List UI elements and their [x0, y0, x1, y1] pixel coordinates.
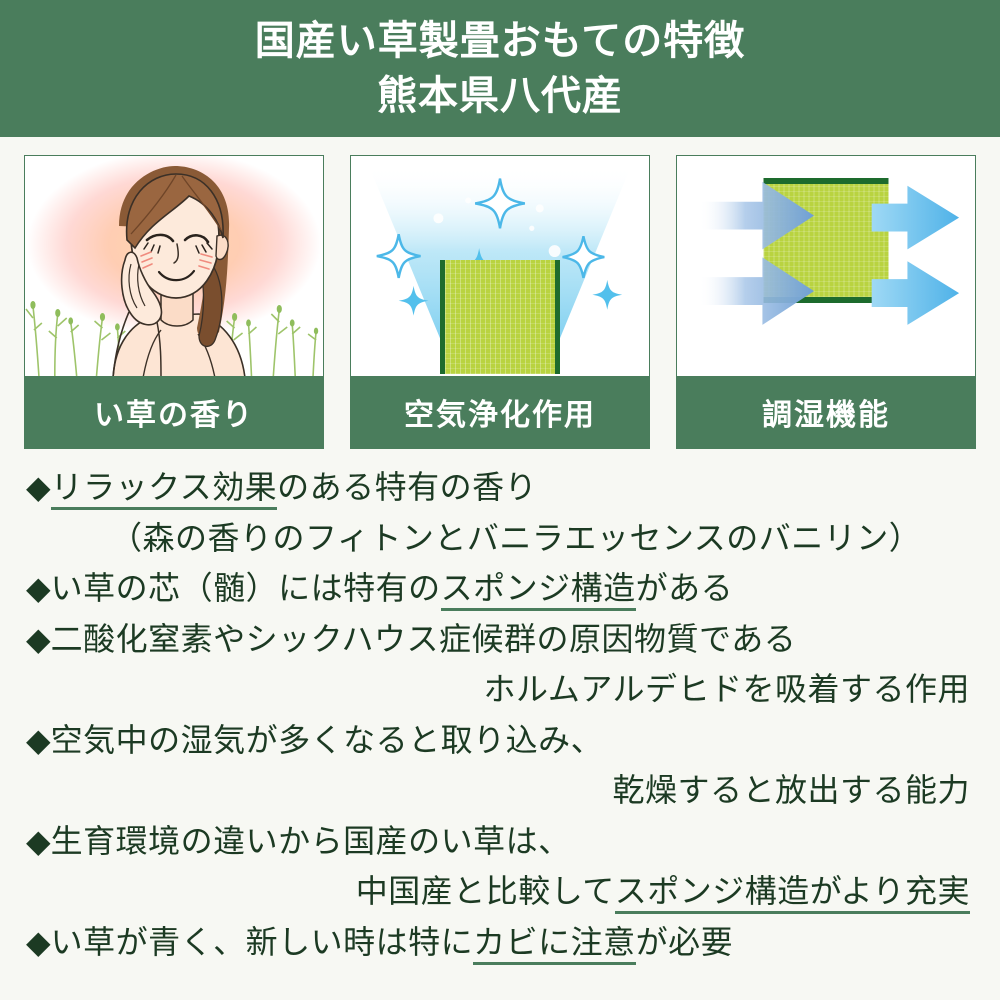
feature-card-aroma[interactable]: い草の香り	[24, 155, 324, 449]
bullet-highlight-text: リラックス効果	[51, 468, 278, 510]
bullet-marker-icon: ◆	[26, 721, 51, 759]
feature-card-air-purification[interactable]: 空気浄化作用	[350, 155, 650, 449]
bullet-line: ◆二酸化窒素やシックハウス症候群の原因物質である	[26, 614, 974, 665]
page-title-line-1: 国産い草製畳おもての特徴	[255, 15, 745, 68]
bullet-line: ◆い草が青く、新しい時は特にカビに注意が必要	[26, 917, 974, 968]
bullet-continuation-line: （森の香りのフィトンとバニラエッセンスのバニリン）	[26, 513, 974, 564]
bullet-text: 中国産と比較して	[356, 872, 615, 910]
bullet-marker-icon: ◆	[26, 923, 51, 961]
feature-bullet-list: ◆リラックス効果のある特有の香り（森の香りのフィトンとバニラエッセンスのバニリン…	[0, 462, 1000, 967]
bullet-continuation-line: 乾燥すると放出する能力	[26, 765, 974, 816]
bullet-continuation-line: ホルムアルデヒドを吸着する作用	[26, 664, 974, 715]
bullet-text: のある特有の香り	[277, 468, 537, 506]
feature-card-humidity-control[interactable]: 調湿機能	[676, 155, 976, 449]
bullet-text: い草の芯（髄）には特有の	[51, 569, 441, 607]
bullet-highlight-text: カビに注意	[473, 923, 636, 965]
bullet-marker-icon: ◆	[26, 620, 51, 658]
card-label-air-purification: 空気浄化作用	[351, 376, 649, 448]
moisture-arrows-icon	[677, 156, 975, 375]
bullet-text: い草が青く、新しい時は特に	[51, 923, 474, 961]
bullet-marker-icon: ◆	[26, 468, 51, 506]
bullet-highlight-text: スポンジ構造	[441, 569, 636, 611]
bullet-text: がある	[636, 569, 734, 607]
aroma-illustration	[25, 156, 323, 376]
bullet-line: ◆い草の芯（髄）には特有のスポンジ構造がある	[26, 563, 974, 614]
air-purification-illustration	[351, 156, 649, 376]
bullet-line: ◆空気中の湿気が多くなると取り込み、	[26, 715, 974, 766]
bullet-text: 生育環境の違いから国産のい草は、	[51, 822, 571, 860]
bullet-continuation-line: 中国産と比較してスポンジ構造がより充実	[26, 866, 974, 917]
bullet-marker-icon: ◆	[26, 822, 51, 860]
tatami-mat-icon	[440, 260, 560, 374]
card-label-aroma: い草の香り	[25, 376, 323, 448]
bullet-text: が必要	[636, 923, 734, 961]
bullet-text: 乾燥すると放出する能力	[612, 771, 970, 809]
bullet-line: ◆リラックス効果のある特有の香り	[26, 462, 974, 513]
bullet-text: 二酸化窒素やシックハウス症候群の原因物質である	[51, 620, 797, 658]
bullet-line: ◆生育環境の違いから国産のい草は、	[26, 816, 974, 867]
humidity-control-illustration	[677, 156, 975, 376]
relaxed-woman-icon	[69, 164, 279, 376]
bullet-text: （森の香りのフィトンとバニラエッセンスのバニリン）	[110, 519, 921, 557]
bullet-highlight-text: スポンジ構造がより充実	[615, 872, 970, 914]
page-title-line-2: 熊本県八代産	[377, 70, 623, 123]
page-header: 国産い草製畳おもての特徴 熊本県八代産	[0, 0, 1000, 137]
bullet-text: 空気中の湿気が多くなると取り込み、	[51, 721, 604, 759]
bullet-marker-icon: ◆	[26, 569, 51, 607]
card-label-humidity-control: 調湿機能	[677, 376, 975, 448]
bullet-text: ホルムアルデヒドを吸着する作用	[483, 670, 970, 708]
infographic-page: 国産い草製畳おもての特徴 熊本県八代産	[0, 0, 1000, 1000]
feature-card-row: い草の香り	[24, 155, 976, 450]
